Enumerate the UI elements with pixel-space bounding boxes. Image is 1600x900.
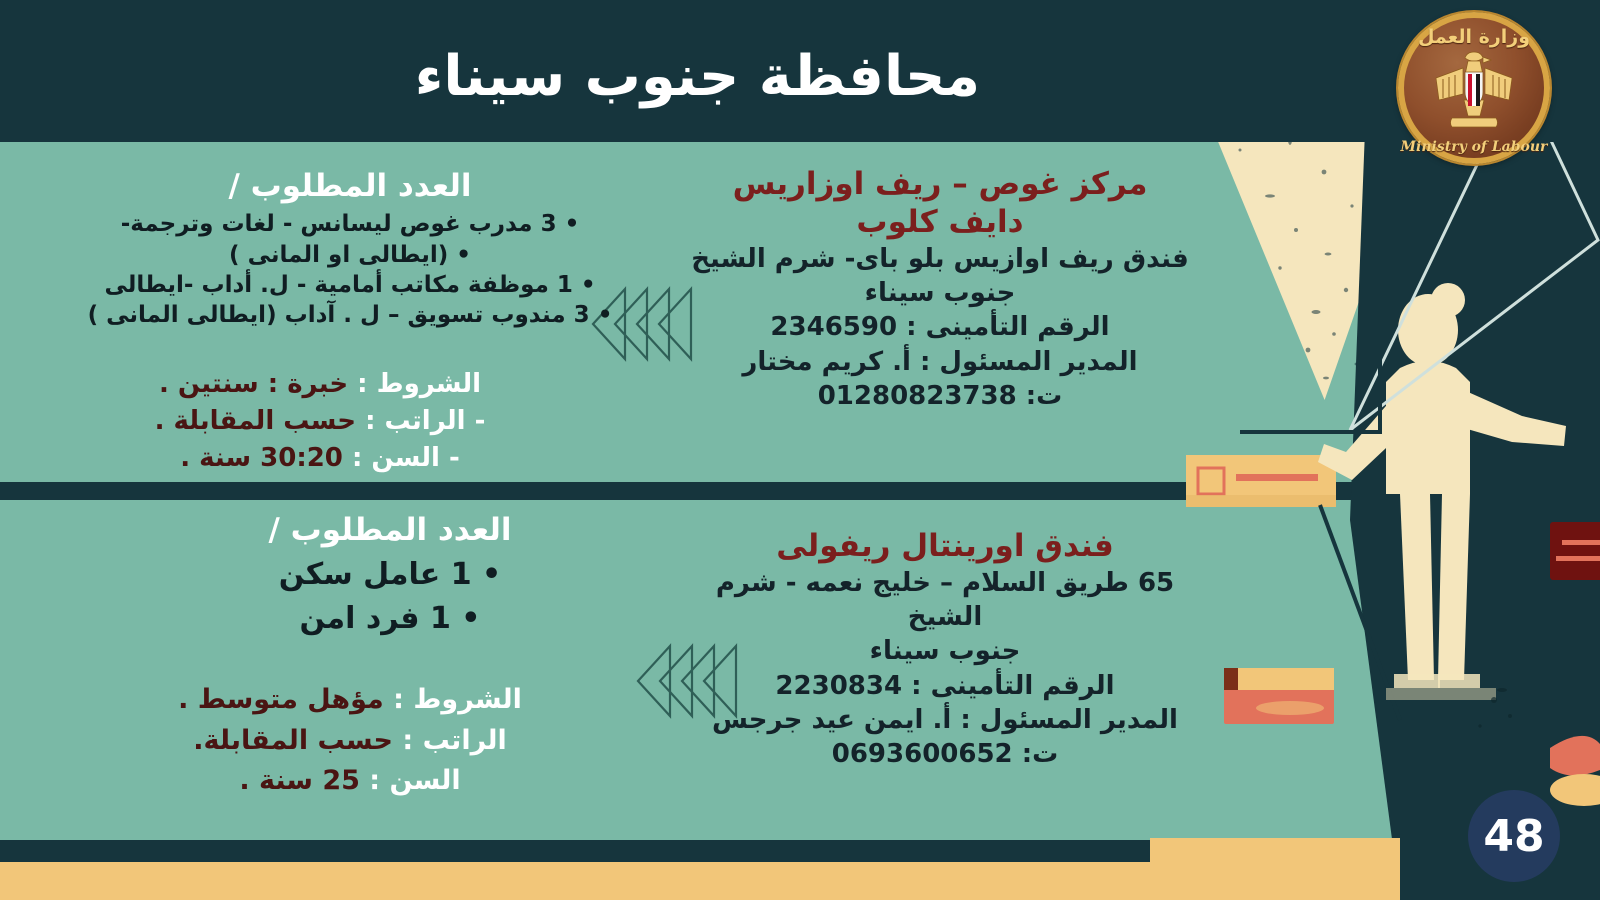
- entry-1-bullet-3: • 1 موظفة مكاتب أمامية - ل. أداب -ايطالى: [40, 270, 660, 300]
- entry-1-manager-name: أ. كريم مختار: [742, 347, 911, 377]
- page-number-badge: 48: [1468, 790, 1560, 882]
- entry-1-org-info: مركز غوص – ريف اوزاريس دايف كلوب فندق ري…: [690, 166, 1190, 413]
- entry-1-condition-3-label: - السن :: [343, 443, 460, 473]
- entry-2-condition-3-label: السن :: [360, 765, 461, 796]
- entry-2-condition-2: الراتب : حسب المقابلة.: [100, 721, 600, 762]
- entry-2-phone-number: 0693600652: [832, 739, 1013, 769]
- entry-2-conditions: الشروط : مؤهل متوسط . الراتب : حسب المقا…: [100, 680, 600, 802]
- entry-2-insurance-label: الرقم التأمينى :: [911, 671, 1114, 701]
- logo-arabic-text: وزارة العمل: [1398, 26, 1550, 48]
- entry-1-condition-3: - السن : 30:20 سنة .: [60, 440, 580, 477]
- red-card-icon: [1550, 522, 1600, 580]
- entry-2-condition-3: السن : 25 سنة .: [100, 761, 600, 802]
- entry-2-org-name: فندق اورينتال ريفولى: [700, 528, 1190, 566]
- entry-1-insurance-row: الرقم التأمينى : 2346590: [690, 310, 1190, 344]
- entry-1-condition-2: - الراتب : حسب المقابلة .: [60, 403, 580, 440]
- entry-2-bullet-2: • 1 فرد امن: [120, 597, 660, 641]
- entry-1-manager-row: المدير المسئول : أ. كريم مختار: [690, 345, 1190, 379]
- entry-1-condition-2-label: - الراتب :: [356, 406, 485, 436]
- slide-root: محافظة جنوب سيناء وزارة العمل: [0, 0, 1600, 900]
- id-card-icon: [1224, 668, 1334, 724]
- entry-1-phone-number: 01280823738: [818, 381, 1017, 411]
- entry-2-manager-name: أ. ايمن عيد جرجس: [712, 705, 951, 735]
- entry-1-insurance-number: 2346590: [770, 312, 897, 342]
- entry-2-phone-row: ت: 0693600652: [700, 737, 1190, 771]
- entry-1-condition-1-label: الشروط :: [348, 369, 481, 399]
- logo-english-text: Ministry of Labour: [1398, 139, 1550, 155]
- entry-1-phone-label: ت:: [1026, 381, 1063, 411]
- entry-2-address-line-2: جنوب سيناء: [700, 634, 1190, 668]
- entry-2-condition-2-label: الراتب :: [393, 725, 507, 756]
- entry-2-condition-1-label: الشروط :: [384, 684, 522, 715]
- entry-2-condition-3-value: 25 سنة .: [239, 765, 360, 796]
- entry-1-condition-3-value: 30:20 سنة .: [180, 443, 343, 473]
- entry-1-needed-title: العدد المطلوب /: [40, 168, 660, 205]
- coral-blob-icon: [1550, 736, 1600, 806]
- eagle-of-saladin-icon: [1430, 48, 1518, 130]
- entry-2-needed-title: العدد المطلوب /: [120, 512, 660, 549]
- entry-1-bullet-4: • 3 مندوب تسويق – ل . آداب (ايطالى المان…: [40, 300, 660, 330]
- entry-2-address-line-1: 65 طريق السلام – خليج نعمه - شرم الشيخ: [700, 566, 1190, 635]
- entry-2-condition-1-value: مؤهل متوسط .: [178, 684, 384, 715]
- entry-1-vacancies: العدد المطلوب / • 3 مدرب غوص ليسانس - لغ…: [40, 168, 660, 331]
- entry-1-bullet-1: • 3 مدرب غوص ليسانس - لغات وترجمة-: [40, 209, 660, 239]
- entry-1-condition-2-value: حسب المقابلة .: [155, 406, 356, 436]
- egypt-shield: [1465, 72, 1483, 106]
- chevron-arrows-decoration-2: [630, 640, 740, 722]
- entry-2-vacancies: العدد المطلوب / • 1 عامل سكن • 1 فرد امن: [120, 512, 660, 640]
- entry-1-org-name: مركز غوص – ريف اوزاريس دايف كلوب: [690, 166, 1190, 242]
- entry-2-condition-2-value: حسب المقابلة.: [193, 725, 393, 756]
- entry-1-phone-row: ت: 01280823738: [690, 379, 1190, 413]
- entry-2-bullet-1: • 1 عامل سكن: [120, 553, 660, 597]
- entry-1-insurance-label: الرقم التأمينى :: [906, 312, 1109, 342]
- slide-header: محافظة جنوب سيناء: [0, 0, 1600, 142]
- entry-2-org-info: فندق اورينتال ريفولى 65 طريق السلام – خل…: [700, 528, 1190, 772]
- entry-1-manager-label: المدير المسئول :: [920, 347, 1138, 377]
- entry-1-conditions: الشروط : خبرة : سنتين . - الراتب : حسب ا…: [60, 366, 580, 477]
- entry-2-insurance-number: 2230834: [775, 671, 902, 701]
- entry-1-address-line-1: فندق ريف اوازيس بلو باى- شرم الشيخ: [690, 242, 1190, 276]
- entry-2-condition-1: الشروط : مؤهل متوسط .: [100, 680, 600, 721]
- entry-2-phone-label: ت:: [1022, 739, 1059, 769]
- entry-1-address-line-2: جنوب سيناء: [690, 276, 1190, 310]
- entry-2-manager-label: المدير المسئول :: [960, 705, 1178, 735]
- entry-1-condition-1: الشروط : خبرة : سنتين .: [60, 366, 580, 403]
- ministry-of-labour-logo: وزارة العمل: [1398, 12, 1550, 164]
- entry-2-insurance-row: الرقم التأمينى : 2230834: [700, 669, 1190, 703]
- page-title: محافظة جنوب سيناء: [415, 44, 980, 109]
- entry-2-manager-row: المدير المسئول : أ. ايمن عيد جرجس: [700, 703, 1190, 737]
- entry-1-condition-1-value: خبرة : سنتين .: [159, 369, 348, 399]
- entry-1-bullet-2: • (ايطالى او المانى ): [40, 240, 660, 270]
